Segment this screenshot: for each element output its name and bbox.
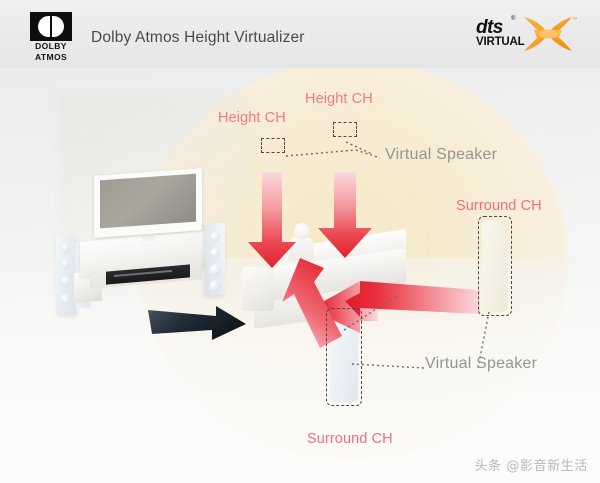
dolby-double-d-icon	[30, 12, 72, 41]
dolby-wordmark-line2: ATMOS	[29, 52, 73, 63]
leader-height-right2	[346, 142, 372, 154]
leader-height-right	[356, 150, 380, 158]
dts-virtual-wordmark: VIRTUAL	[476, 36, 524, 48]
leader-height-left	[286, 150, 356, 156]
room-diagram: Height CH Height CH Virtual Speaker Surr…	[0, 68, 600, 483]
surround-ch-marker-bottom	[326, 308, 362, 406]
label-height-ch-left: Height CH	[218, 110, 286, 126]
dts-virtual-x-logo: dts ® VIRTUAL ™	[476, 15, 580, 55]
label-virtual-speaker-bottom: Virtual Speaker	[425, 355, 537, 373]
height-ch-marker-right	[333, 122, 357, 137]
label-virtual-speaker-top: Virtual Speaker	[385, 146, 497, 164]
slide-header: DOLBY ATMOS Dolby Atmos Height Virtualiz…	[0, 0, 600, 68]
dolby-wordmark-line1: DOLBY	[29, 41, 73, 52]
watermark: 头条 @影音新生活	[474, 455, 588, 474]
dts-registered-mark: ®	[511, 16, 515, 22]
dolby-atmos-logo: DOLBY ATMOS	[29, 12, 73, 62]
label-surround-ch-right: Surround CH	[456, 198, 542, 214]
dts-trademark-mark: ™	[572, 17, 578, 23]
page-title: Dolby Atmos Height Virtualizer	[91, 29, 305, 47]
surround-ch-marker-right	[478, 216, 512, 316]
height-ch-marker-left	[261, 138, 285, 153]
dolby-atmos-height-virtualizer-slide: DOLBY ATMOS Dolby Atmos Height Virtualiz…	[0, 0, 600, 483]
dts-x-mark-icon	[520, 14, 576, 54]
leader-virtual-speaker-bottom	[352, 364, 424, 368]
label-height-ch-right: Height CH	[305, 91, 373, 107]
label-surround-ch-bottom: Surround CH	[307, 431, 393, 447]
